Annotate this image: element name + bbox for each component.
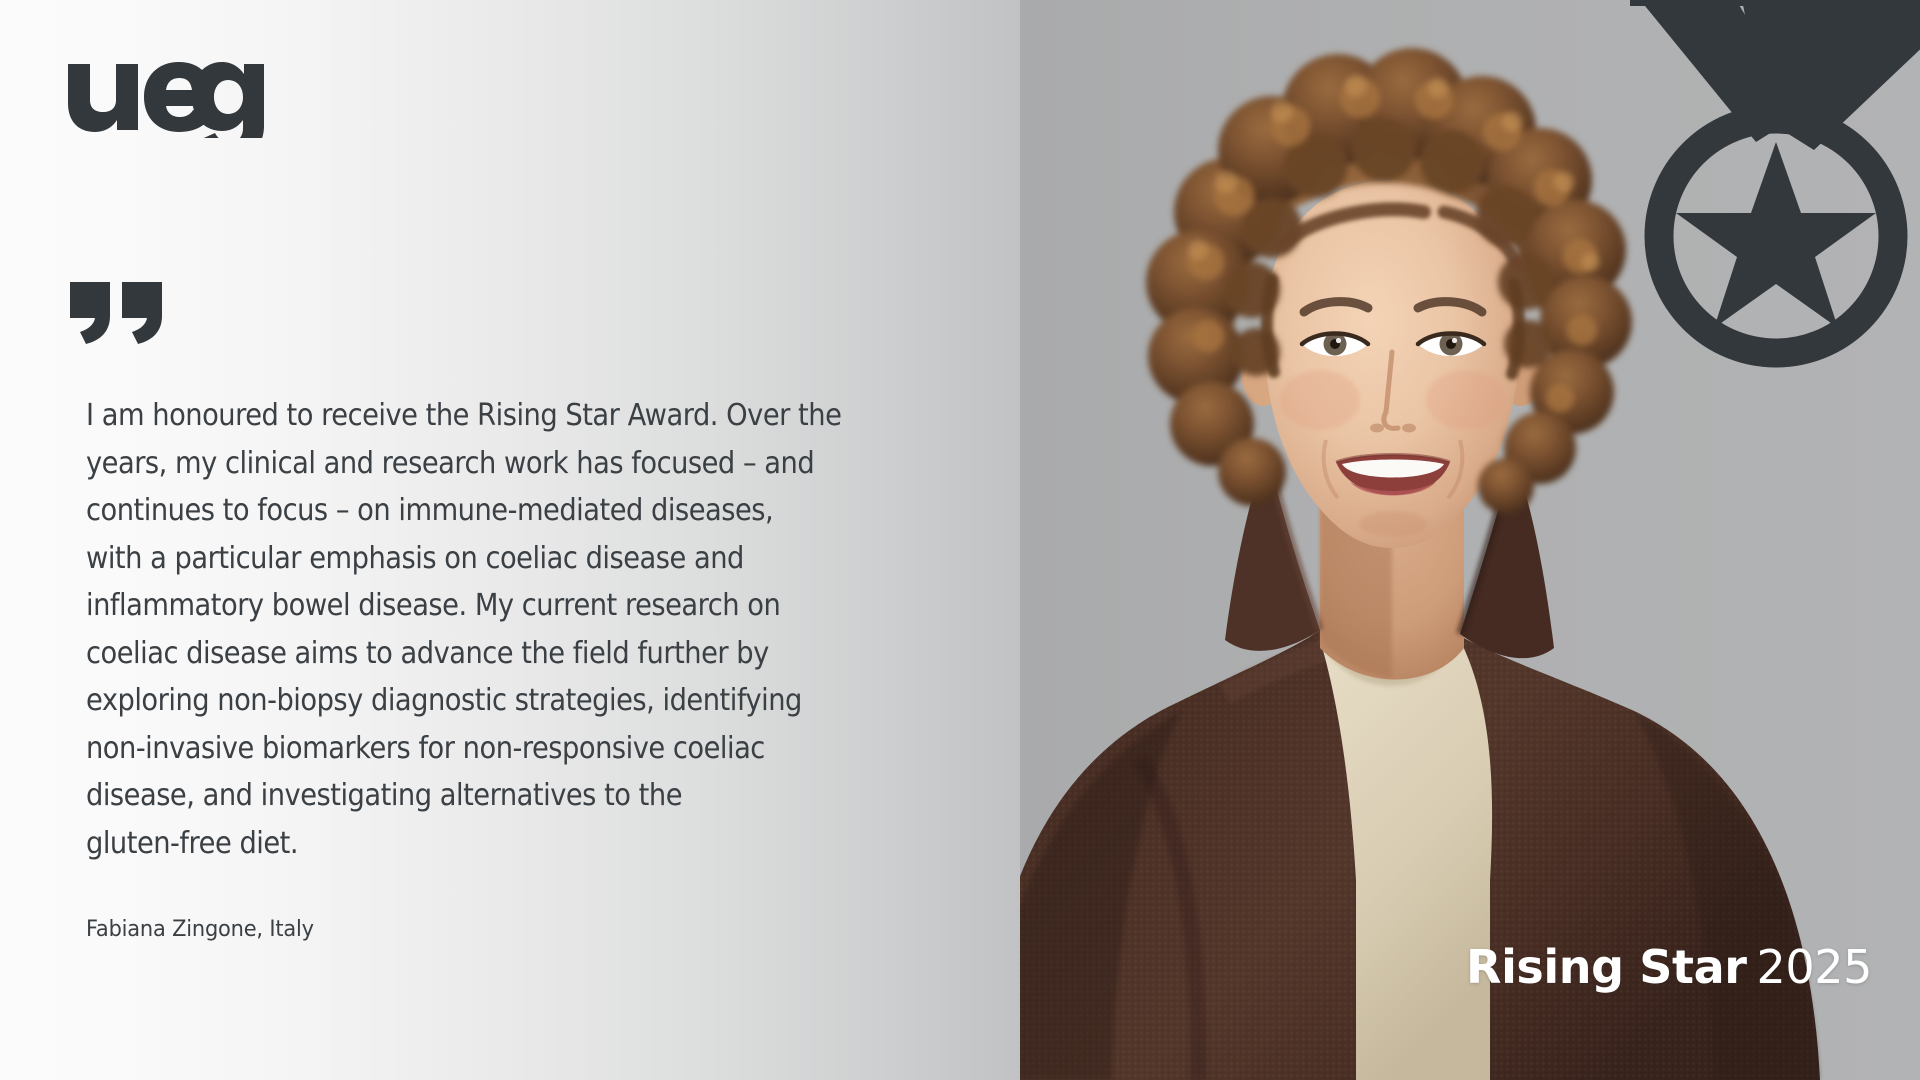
quote-block: I am honoured to receive the Rising Star… — [86, 392, 1126, 867]
ueg-logo — [66, 48, 266, 138]
quote-text: I am honoured to receive the Rising Star… — [86, 392, 1017, 867]
quote-mark-icon — [70, 282, 170, 344]
award-title: Rising Star2025 — [1466, 940, 1872, 994]
award-slide: I am honoured to receive the Rising Star… — [0, 0, 1920, 1080]
award-title-year: 2025 — [1757, 940, 1872, 994]
quote-attribution: Fabiana Zingone, Italy — [86, 916, 314, 942]
award-title-bold: Rising Star — [1466, 940, 1746, 994]
medal-star-icon — [1590, 0, 1920, 380]
